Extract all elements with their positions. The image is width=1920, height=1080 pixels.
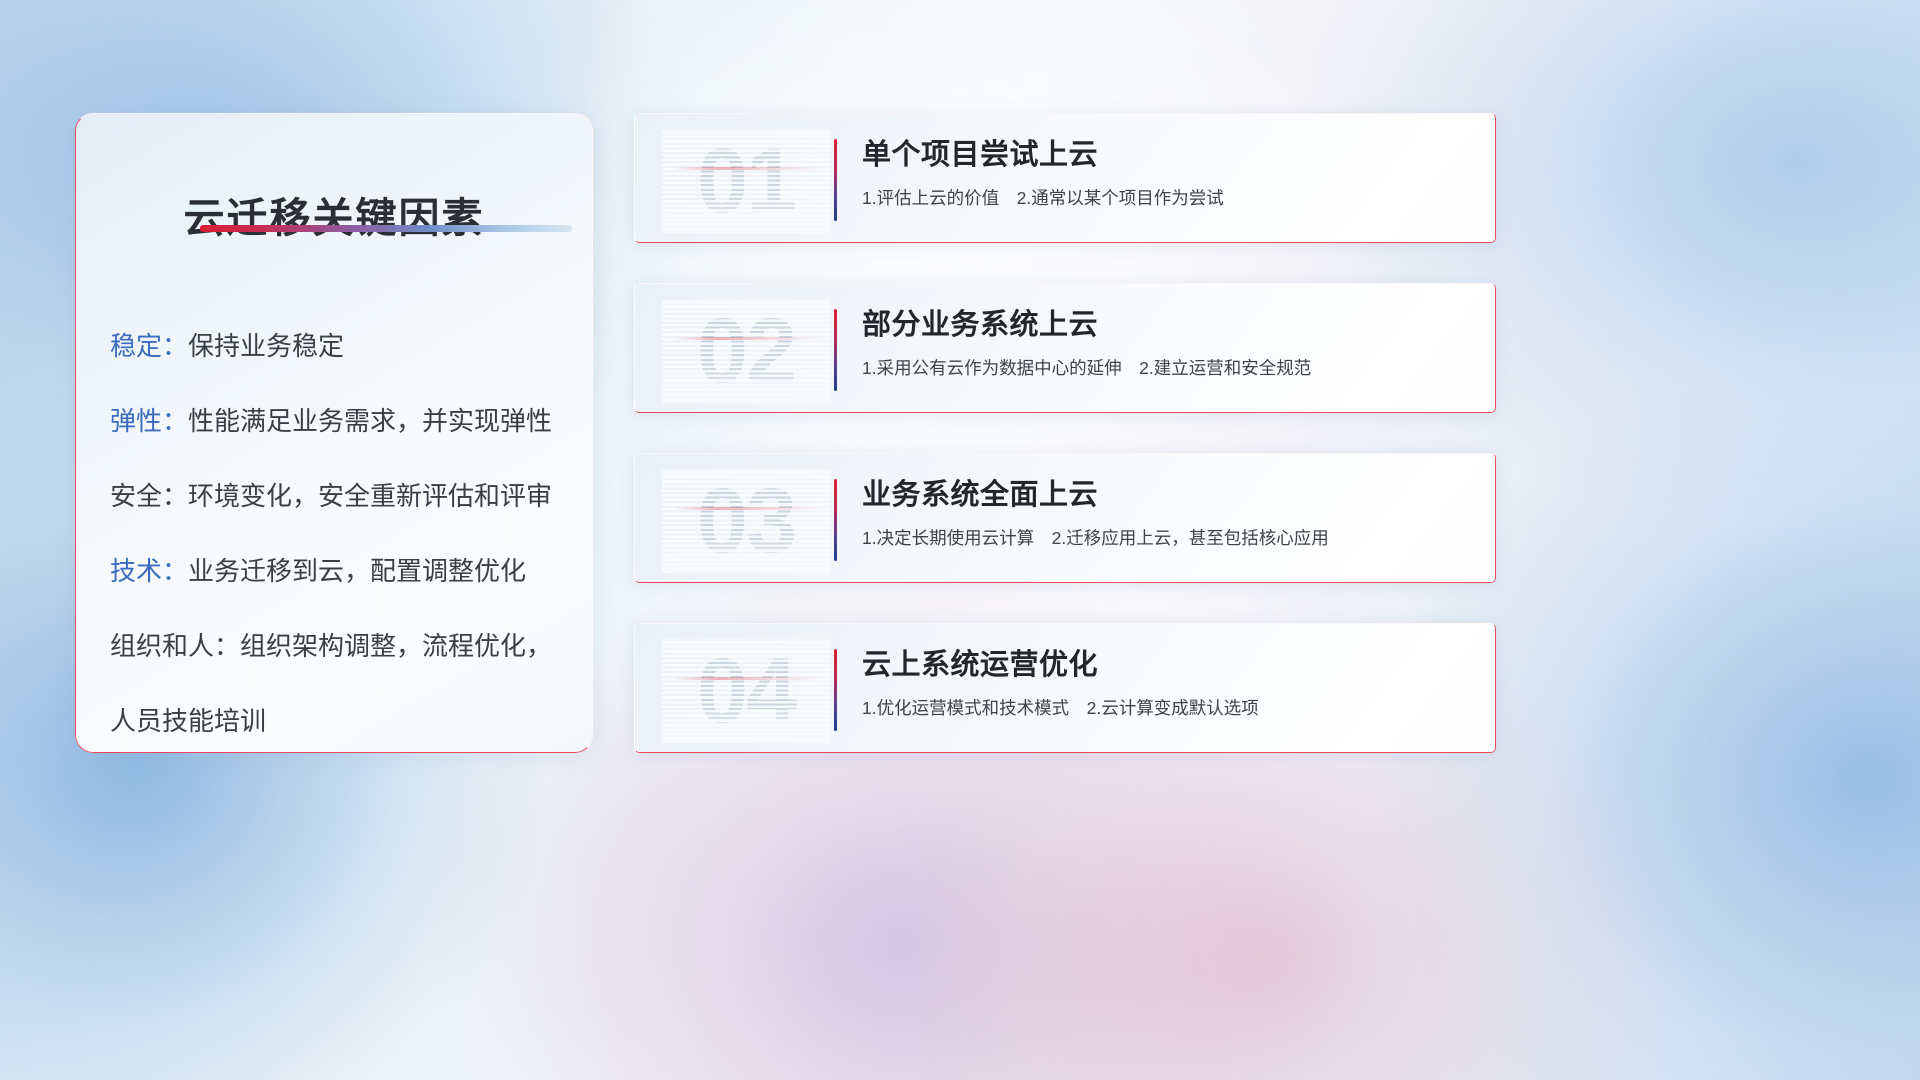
factor-text: 环境变化，安全重新评估和评审 bbox=[188, 481, 552, 511]
factor-list: 稳定：保持业务稳定 弹性：性能满足业务需求，并实现弹性 安全：环境变化，安全重新… bbox=[110, 309, 575, 753]
factor-text: 组织架构调整，流程优化， bbox=[240, 631, 552, 661]
factor-text: 人员技能培训 bbox=[110, 706, 266, 736]
factor-row: 弹性：性能满足业务需求，并实现弹性 bbox=[110, 384, 575, 459]
card-description: 1.优化运营模式和技术模式 2.云计算变成默认选项 bbox=[862, 693, 1472, 723]
card-description: 1.采用公有云作为数据中心的延伸 2.建立运营和安全规范 bbox=[862, 353, 1472, 383]
card-divider-bar bbox=[834, 649, 837, 731]
factor-label: 组织和人： bbox=[110, 631, 240, 661]
stage-number-ghost: 01 bbox=[662, 129, 830, 233]
card-description: 1.决定长期使用云计算 2.迁移应用上云，甚至包括核心应用 bbox=[862, 523, 1472, 553]
stage-number-ghost: 03 bbox=[662, 469, 830, 573]
stage-card[interactable]: 04 云上系统运营优化 1.优化运营模式和技术模式 2.云计算变成默认选项 bbox=[634, 623, 1496, 753]
card-text-block: 业务系统全面上云 1.决定长期使用云计算 2.迁移应用上云，甚至包括核心应用 bbox=[862, 475, 1472, 553]
card-text-block: 单个项目尝试上云 1.评估上云的价值 2.通常以某个项目作为尝试 bbox=[862, 135, 1472, 213]
stage-card[interactable]: 01 单个项目尝试上云 1.评估上云的价值 2.通常以某个项目作为尝试 bbox=[634, 113, 1496, 243]
factor-label: 技术： bbox=[110, 556, 188, 586]
card-text-block: 云上系统运营优化 1.优化运营模式和技术模式 2.云计算变成默认选项 bbox=[862, 645, 1472, 723]
card-title: 业务系统全面上云 bbox=[862, 475, 1472, 515]
factor-row: 安全：环境变化，安全重新评估和评审 bbox=[110, 459, 575, 534]
factor-text: 保持业务稳定 bbox=[188, 331, 344, 361]
factor-row: 稳定：保持业务稳定 bbox=[110, 309, 575, 384]
factor-label: 安全： bbox=[110, 481, 188, 511]
card-description: 1.评估上云的价值 2.通常以某个项目作为尝试 bbox=[862, 183, 1472, 213]
factor-row: 技术：业务迁移到云，配置调整优化 bbox=[110, 534, 575, 609]
stage-card[interactable]: 03 业务系统全面上云 1.决定长期使用云计算 2.迁移应用上云，甚至包括核心应… bbox=[634, 453, 1496, 583]
card-title: 单个项目尝试上云 bbox=[862, 135, 1472, 175]
factor-row: 组织和人：组织架构调整，流程优化， bbox=[110, 609, 575, 684]
card-text-block: 部分业务系统上云 1.采用公有云作为数据中心的延伸 2.建立运营和安全规范 bbox=[862, 305, 1472, 383]
factor-row-continuation: 人员技能培训 bbox=[110, 684, 575, 753]
factor-label: 稳定： bbox=[110, 331, 188, 361]
title-underline-bar bbox=[200, 225, 572, 232]
card-divider-bar bbox=[834, 309, 837, 391]
stage-card[interactable]: 02 部分业务系统上云 1.采用公有云作为数据中心的延伸 2.建立运营和安全规范 bbox=[634, 283, 1496, 413]
card-title: 部分业务系统上云 bbox=[862, 305, 1472, 345]
stage-card-list: 01 单个项目尝试上云 1.评估上云的价值 2.通常以某个项目作为尝试 02 部… bbox=[634, 113, 1496, 793]
factor-text: 业务迁移到云，配置调整优化 bbox=[188, 556, 526, 586]
card-divider-bar bbox=[834, 479, 837, 561]
stage-number-ghost: 04 bbox=[662, 639, 830, 743]
factor-label: 弹性： bbox=[110, 406, 188, 436]
panel-title: 云迁移关键因素 bbox=[75, 184, 593, 244]
stage-number-ghost: 02 bbox=[662, 299, 830, 403]
key-factors-panel: 云迁移关键因素 稳定：保持业务稳定 弹性：性能满足业务需求，并实现弹性 安全：环… bbox=[75, 113, 593, 753]
factor-text: 性能满足业务需求，并实现弹性 bbox=[188, 406, 552, 436]
card-title: 云上系统运营优化 bbox=[862, 645, 1472, 685]
card-divider-bar bbox=[834, 139, 837, 221]
